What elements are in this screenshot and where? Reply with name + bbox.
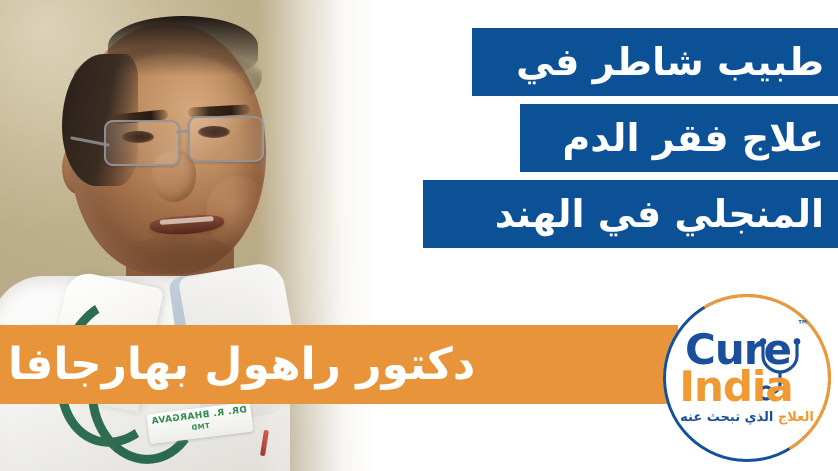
lens-left [104, 120, 180, 166]
cure-india-logo[interactable]: Cure India العلاج الذي تبحث عنه ™ [663, 294, 831, 462]
headline-line-2: علاج فقر الدم [520, 104, 838, 172]
logo-tagline: العلاج الذي تبحث عنه [680, 410, 814, 425]
promo-banner: DR. R. BHARGAVA TMD [0, 0, 838, 471]
doctor-name-text: دكتور راهول بهارجافا [8, 343, 475, 387]
eyeglasses [96, 116, 272, 168]
headline-line-3: المنجلي في الهند [423, 180, 838, 248]
logo-tagline-orange: العلاج [778, 410, 814, 425]
chin-shadow [118, 236, 240, 280]
logo-tagline-blue: الذي تبحث عنه [680, 410, 773, 425]
lens-right [188, 116, 264, 162]
doctor-name-banner: دكتور راهول بهارجافا [0, 325, 678, 404]
headline-line-1: طبيب شاطر في [472, 28, 838, 96]
trademark-symbol: ™ [797, 318, 809, 332]
logo-word-india: India [679, 368, 792, 407]
